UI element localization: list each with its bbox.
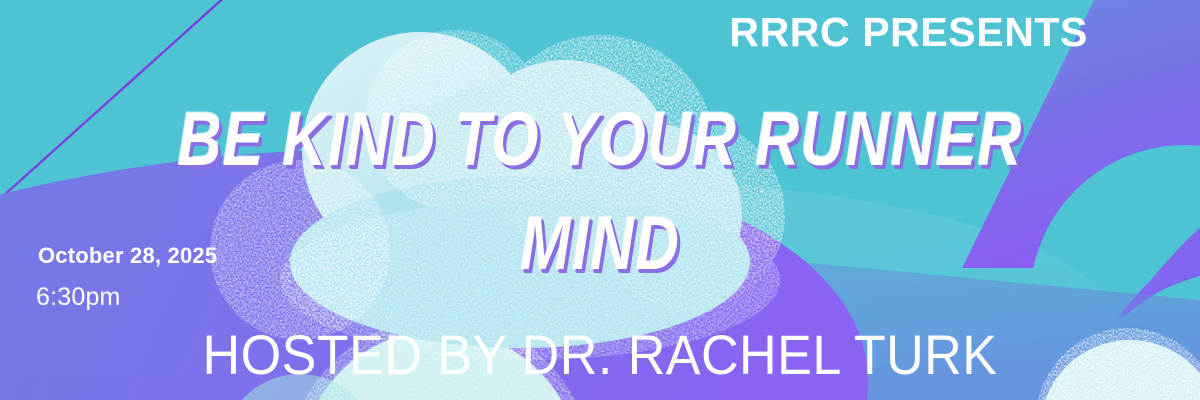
event-title-line-2: MIND <box>120 200 1080 287</box>
presenter-label: RRRC PRESENTS <box>729 9 1088 56</box>
event-date: October 28, 2025 <box>38 243 217 269</box>
event-banner: RRRC PRESENTS BE KIND TO YOUR RUNNER MIN… <box>0 0 1200 400</box>
event-host: HOSTED BY DR. RACHEL TURK <box>42 322 1158 387</box>
event-time: 6:30pm <box>36 283 121 312</box>
event-title-line-1: BE KIND TO YOUR RUNNER <box>120 96 1080 183</box>
